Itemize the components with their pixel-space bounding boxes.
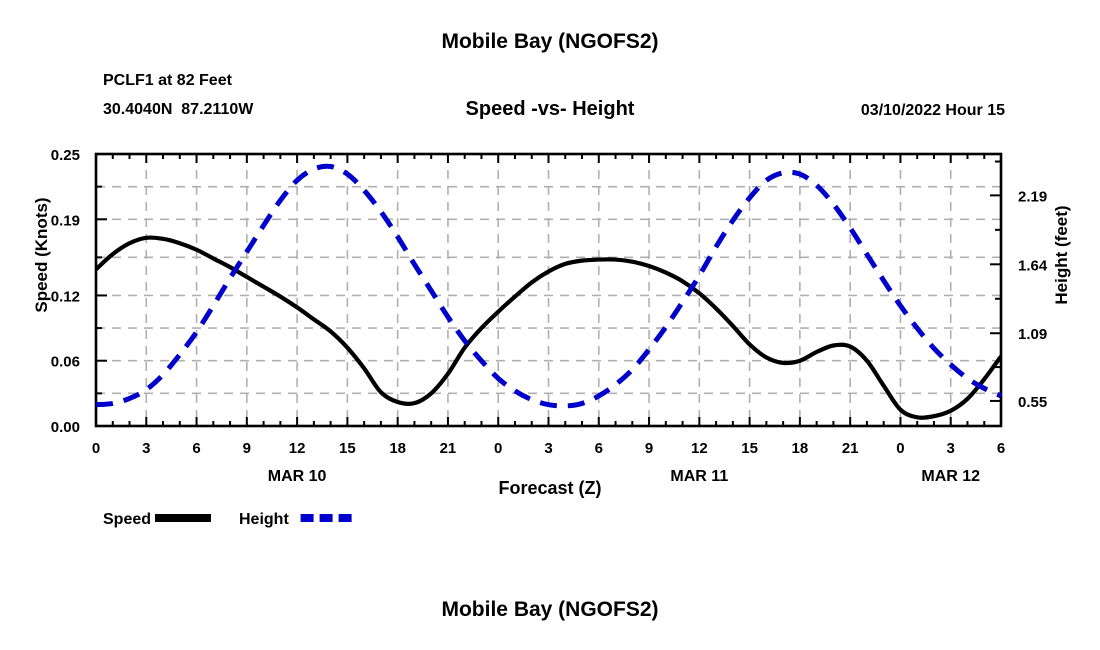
x-axis-tick-label: 3 — [947, 440, 955, 457]
chart-legend: SpeedHeight — [103, 511, 357, 528]
y-axis-left-tick-label: 0.12 — [51, 288, 80, 305]
x-axis-tick-label: 0 — [896, 440, 904, 457]
y-axis-left-tick-label: 0.25 — [51, 147, 80, 164]
y-axis-left-tick-label: 0.19 — [51, 212, 80, 229]
x-axis-tick-label: 6 — [192, 440, 200, 457]
x-axis-tick-label: 21 — [842, 440, 859, 457]
x-axis-tick-label: 15 — [741, 440, 758, 457]
y-axis-left-tick-label: 0.06 — [51, 354, 80, 371]
y-axis-right-tick-label: 1.09 — [1018, 326, 1047, 343]
legend-item-label: Speed — [103, 511, 151, 528]
y-axis-right-tick-label: 0.55 — [1018, 394, 1047, 411]
x-axis-tick-label: 12 — [289, 440, 306, 457]
x-axis-tick-label: 9 — [645, 440, 653, 457]
x-axis-tick-label: 3 — [142, 440, 150, 457]
x-axis-tick-label: 18 — [389, 440, 406, 457]
y-axis-right-tick-label: 2.19 — [1018, 188, 1047, 205]
x-axis-tick-label: 18 — [792, 440, 809, 457]
x-axis-tick-label: 15 — [339, 440, 356, 457]
y-axis-left-tick-label: 0.00 — [51, 419, 80, 436]
legend-item-label: Height — [239, 511, 289, 528]
x-axis-tick-label: 3 — [544, 440, 552, 457]
y-axis-right-tick-label: 1.64 — [1018, 257, 1048, 274]
x-axis-tick-label: 0 — [92, 440, 100, 457]
x-axis-tick-label: 6 — [997, 440, 1005, 457]
x-axis-tick-label: 0 — [494, 440, 502, 457]
x-axis-tick-label: 12 — [691, 440, 708, 457]
x-axis-tick-label: 9 — [243, 440, 251, 457]
x-axis-tick-label: 6 — [595, 440, 603, 457]
page-title-bottom: Mobile Bay (NGOFS2) — [0, 598, 1100, 622]
x-axis-day-label: MAR 10 — [268, 468, 327, 485]
chart-page: Mobile Bay (NGOFS2) PCLF1 at 82 Feet 30.… — [0, 0, 1100, 650]
x-axis-day-label: MAR 11 — [670, 468, 728, 485]
x-axis-tick-label: 21 — [440, 440, 457, 457]
x-axis-day-label: MAR 12 — [921, 468, 980, 485]
chart-plot-area: 0.000.060.120.190.250.551.091.642.190369… — [0, 0, 1100, 560]
